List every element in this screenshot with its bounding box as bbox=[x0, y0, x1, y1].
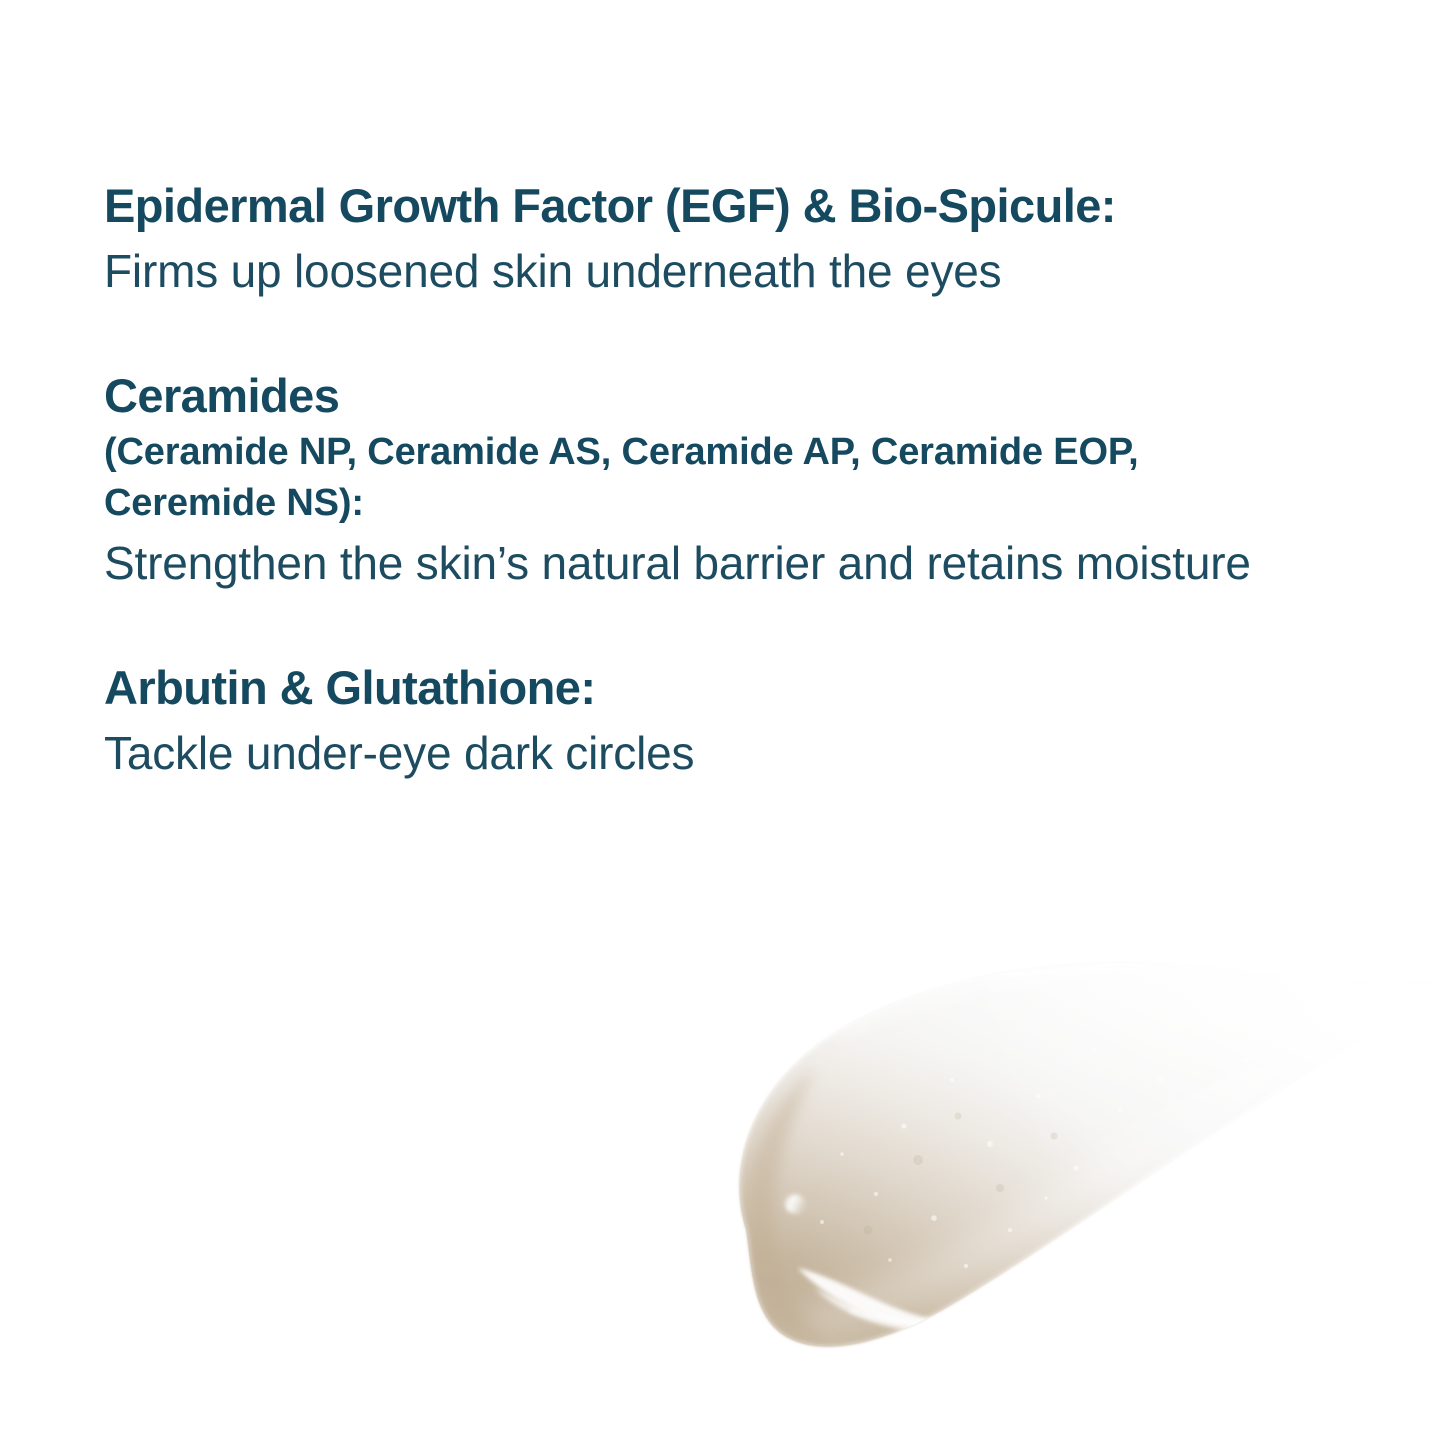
ingredient-body-ceramides: Strengthen the skin’s natural barrier an… bbox=[104, 533, 1294, 594]
product-ingredient-infographic: Epidermal Growth Factor (EGF) & Bio-Spic… bbox=[0, 0, 1445, 1445]
cream-swatch-body bbox=[739, 963, 1432, 1347]
ingredient-body-arbutin: Tackle under-eye dark circles bbox=[104, 723, 1294, 784]
ingredient-item-arbutin: Arbutin & Glutathione: Tackle under-eye … bbox=[104, 660, 1374, 784]
ingredient-subheading-ceramides: (Ceramide NP, Ceramide AS, Ceramide AP, … bbox=[104, 427, 1319, 529]
ingredient-item-egf: Epidermal Growth Factor (EGF) & Bio-Spic… bbox=[104, 178, 1374, 302]
ingredient-body-egf: Firms up loosened skin underneath the ey… bbox=[104, 241, 1294, 302]
ingredient-heading-arbutin: Arbutin & Glutathione: bbox=[104, 660, 1374, 717]
cream-swatch bbox=[690, 930, 1445, 1400]
ingredient-heading-egf: Epidermal Growth Factor (EGF) & Bio-Spic… bbox=[104, 178, 1374, 235]
ingredient-item-ceramides: Ceramides (Ceramide NP, Ceramide AS, Cer… bbox=[104, 368, 1374, 594]
ingredient-heading-ceramides: Ceramides bbox=[104, 368, 1374, 425]
ingredient-list: Epidermal Growth Factor (EGF) & Bio-Spic… bbox=[104, 178, 1374, 784]
